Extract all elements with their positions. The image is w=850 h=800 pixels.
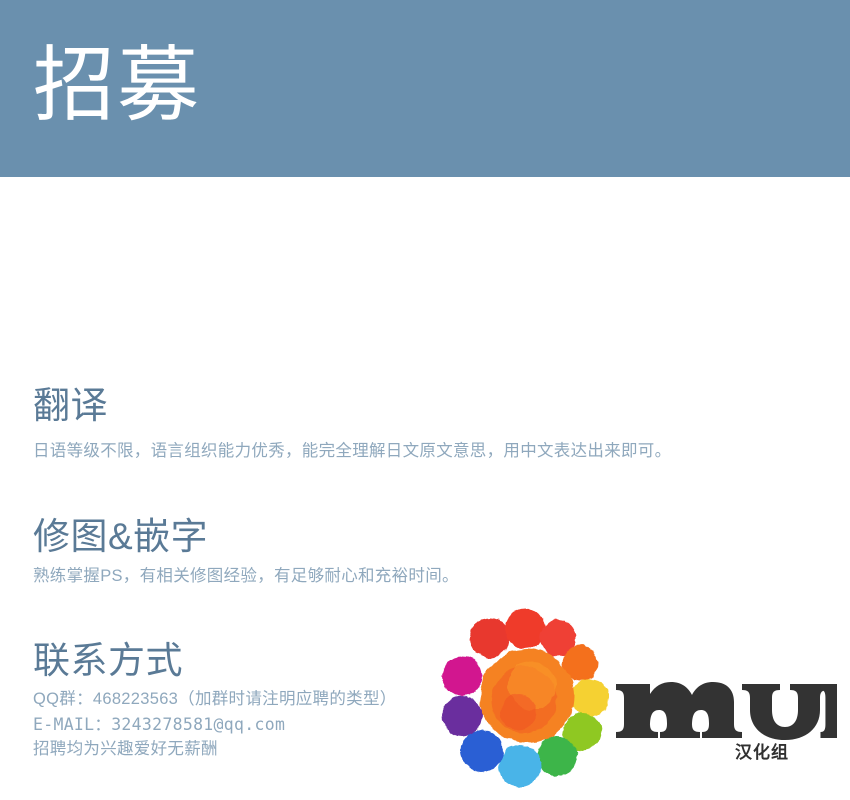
section-contact-heading: 联系方式	[33, 639, 397, 683]
petal-green-lower-right	[537, 736, 577, 776]
logo-center-blob	[480, 649, 574, 743]
logo: 汉化组	[440, 608, 840, 793]
petal-cyan-bottom	[499, 745, 541, 787]
section-translate: 翻译 日语等级不限，语言组织能力优秀，能完全理解日文原文意思，用中文表达出来即可…	[33, 384, 671, 464]
petal-red-top	[505, 609, 545, 649]
petal-magenta-upper-left	[442, 656, 482, 696]
contact-note-line: 招聘均为兴趣爱好无薪酬	[33, 737, 397, 762]
section-retouch: 修图&嵌字 熟练掌握PS，有相关修图经验，有足够耐心和充裕时间。	[33, 515, 459, 589]
contact-qq-line: QQ群：468223563（加群时请注明应聘的类型）	[33, 687, 397, 712]
section-contact: 联系方式 QQ群：468223563（加群时请注明应聘的类型） E-MAIL：3…	[33, 639, 397, 762]
header-band: 招募	[0, 0, 850, 177]
section-translate-body: 日语等级不限，语言组织能力优秀，能完全理解日文原文意思，用中文表达出来即可。	[33, 438, 671, 464]
section-translate-heading: 翻译	[33, 384, 671, 428]
logo-wordmark-mum	[612, 664, 837, 744]
contact-email-line: E-MAIL：3243278581@qq.com	[33, 712, 397, 737]
petal-purple-left	[442, 696, 482, 736]
logo-subtitle: 汉化组	[735, 743, 789, 763]
contact-lines: QQ群：468223563（加群时请注明应聘的类型） E-MAIL：324327…	[33, 687, 397, 762]
petal-blue-bottom-left	[461, 730, 503, 772]
petal-red-top-left	[470, 618, 510, 658]
petal-yellow-right	[571, 679, 609, 717]
logo-color-wheel-icon	[440, 608, 625, 793]
section-retouch-heading: 修图&嵌字	[33, 515, 459, 559]
page-title: 招募	[33, 38, 201, 134]
section-retouch-body: 熟练掌握PS，有相关修图经验，有足够耐心和充裕时间。	[33, 563, 459, 589]
